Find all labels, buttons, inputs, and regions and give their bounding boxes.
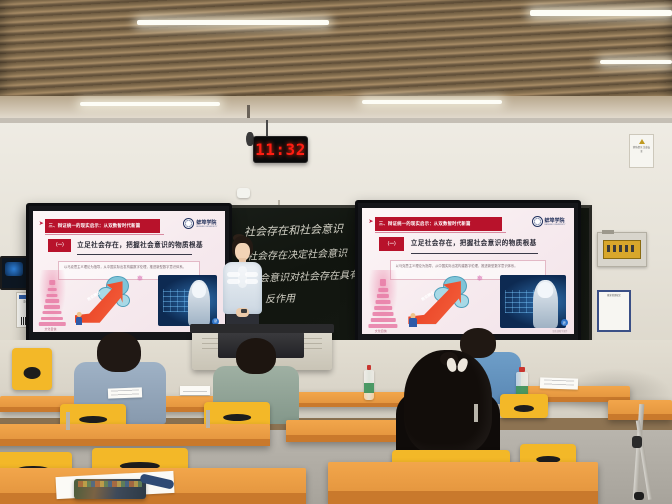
ai-ui-overlay — [163, 289, 190, 311]
butterfly-hairclip-icon — [447, 358, 467, 372]
ceiling-light-1 — [137, 20, 329, 25]
pagoda-illustration-left — [37, 270, 68, 328]
slide-rule-left — [45, 234, 164, 235]
electrical-panel[interactable] — [597, 232, 647, 267]
slide-footer-right: 思政课教学课件 — [552, 329, 567, 333]
pencil-case[interactable] — [74, 479, 146, 499]
university-subname-right: BENGBU UNIVERSITY — [545, 224, 566, 226]
display-screen-left[interactable]: ➤︙ 三、辩证统一的现实启示：从双数智时代新篇 蚌埠学院 BENGBU UNIV… — [26, 203, 232, 344]
fire-warning-sign: 消防提示 注意安全 — [629, 134, 654, 168]
chair-mid-1[interactable] — [12, 348, 52, 390]
paper-back-right[interactable] — [540, 377, 578, 389]
slide-section-title-right: 三、辩证统一的现实启示：从双数智时代新篇 — [375, 221, 471, 227]
slide-subsection-number-left: （一） — [48, 239, 71, 252]
tripod-foot — [634, 492, 644, 500]
clock-time-display: 11:32 — [255, 140, 306, 159]
student-green-shirt-head — [236, 338, 276, 374]
desk-leg-3 — [474, 404, 478, 422]
classroom-photo: 11:32 消防提示 注意安全 设备使用说明 社会存在和社会意识 社会存在决定社… — [0, 0, 672, 504]
paper-back-left[interactable] — [108, 387, 142, 398]
ceiling-light-4 — [362, 100, 502, 104]
warning-sign-label: 消防提示 注意安全 — [632, 146, 651, 153]
robot-figure — [188, 280, 211, 326]
ai-ui-overlay-right — [505, 290, 535, 313]
slide-subsection-heading-left: 立足社会存在，把握社会意识的物质根基 — [77, 239, 203, 249]
ceiling-light-5 — [600, 60, 672, 64]
robot-figure-right — [533, 280, 558, 328]
university-logo-right: 蚌埠学院 BENGBU UNIVERSITY — [532, 216, 566, 227]
arrow-gear-illustration-right: 数实融合 — [404, 272, 470, 327]
cartoon-person-icon — [75, 312, 83, 325]
slide-watermark-right: 研 — [561, 319, 568, 326]
chair-mid-5[interactable] — [500, 394, 548, 418]
breaker-row-icon — [603, 240, 641, 259]
cartoon-body — [76, 317, 83, 325]
university-seal-icon-right — [532, 216, 543, 227]
flower-decoration-icon: ❅ — [137, 274, 144, 283]
slide-section-bar-left: 三、辩证统一的现实启示：从双数智时代新篇 — [45, 219, 160, 232]
slide-rule-right — [375, 232, 506, 233]
slide-right: ➤︙ 三、辩证统一的现实启示：从双数智时代新篇 蚌埠学院 BENGBU UNIV… — [362, 208, 574, 334]
wall-digital-clock: 11:32 — [253, 136, 308, 163]
tripod-joint — [632, 436, 642, 448]
slide-subsection-number-right: （一） — [379, 237, 404, 251]
cartoon-body-right — [409, 318, 416, 327]
desk-leg-2 — [206, 410, 210, 428]
cartoon-person-icon-right — [408, 313, 417, 326]
slide-section-title-left: 三、辩证统一的现实启示：从双数智时代新篇 — [45, 223, 141, 229]
chalk-line-4: 反作用 — [265, 289, 296, 305]
university-seal-icon — [183, 218, 194, 229]
ai-robot-image-left — [158, 275, 218, 326]
student-blue-shirt-head — [97, 332, 141, 372]
monitor-glow-left — [5, 262, 23, 276]
pagoda-caption-right: 文化自信 — [375, 329, 387, 333]
ceiling-light-2 — [530, 10, 672, 16]
desk-leg-1 — [66, 412, 70, 430]
ceiling-light-3 — [80, 102, 220, 106]
slide-heading-underline-right — [411, 253, 538, 254]
right-wall-notice: 教室管理规定 — [597, 290, 631, 332]
smoke-detector-icon — [237, 188, 250, 198]
slide-heading-underline-left — [77, 254, 192, 255]
university-name-right: 蚌埠学院 — [545, 217, 566, 224]
right-notice-label: 教室管理规定 — [602, 295, 626, 299]
pagoda-illustration-right — [366, 270, 400, 330]
presentation-clicker[interactable] — [241, 309, 247, 313]
presenter-blouse — [223, 262, 262, 314]
paper-back-center[interactable] — [180, 386, 210, 395]
slide-left: ➤︙ 三、辩证统一的现实启示：从双数智时代新篇 蚌埠学院 BENGBU UNIV… — [33, 211, 225, 332]
arrow-gear-illustration-left: 数实融合 — [71, 273, 131, 326]
display-screen-right[interactable]: ➤︙ 三、辩证统一的现实启示：从双数智时代新篇 蚌埠学院 BENGBU UNIV… — [355, 200, 581, 346]
desk-front-right[interactable] — [328, 462, 598, 504]
desk-back-center[interactable] — [292, 392, 412, 407]
ai-robot-image-right — [500, 275, 566, 328]
slide-section-bar-right: 三、辩证统一的现实启示：从双数智时代新篇 — [375, 217, 502, 231]
flower-decoration-icon-right: ❅ — [476, 274, 483, 283]
university-subname-left: BENGBU UNIVERSITY — [196, 226, 217, 228]
desk-mid-left[interactable] — [0, 424, 270, 446]
pagoda-caption-left: 文化自信 — [45, 327, 57, 331]
university-name-left: 蚌埠学院 — [196, 219, 217, 226]
panel-tab — [602, 230, 614, 234]
university-logo-left: 蚌埠学院 BENGBU UNIVERSITY — [183, 218, 217, 229]
lectern-top-surface — [190, 324, 334, 333]
warning-triangle-icon — [639, 139, 645, 144]
slide-subsection-heading-right: 立足社会存在，把握社会意识的物质根基 — [411, 237, 537, 247]
water-bottle-back[interactable] — [364, 370, 374, 400]
wall-ceiling-shadow — [0, 118, 672, 123]
